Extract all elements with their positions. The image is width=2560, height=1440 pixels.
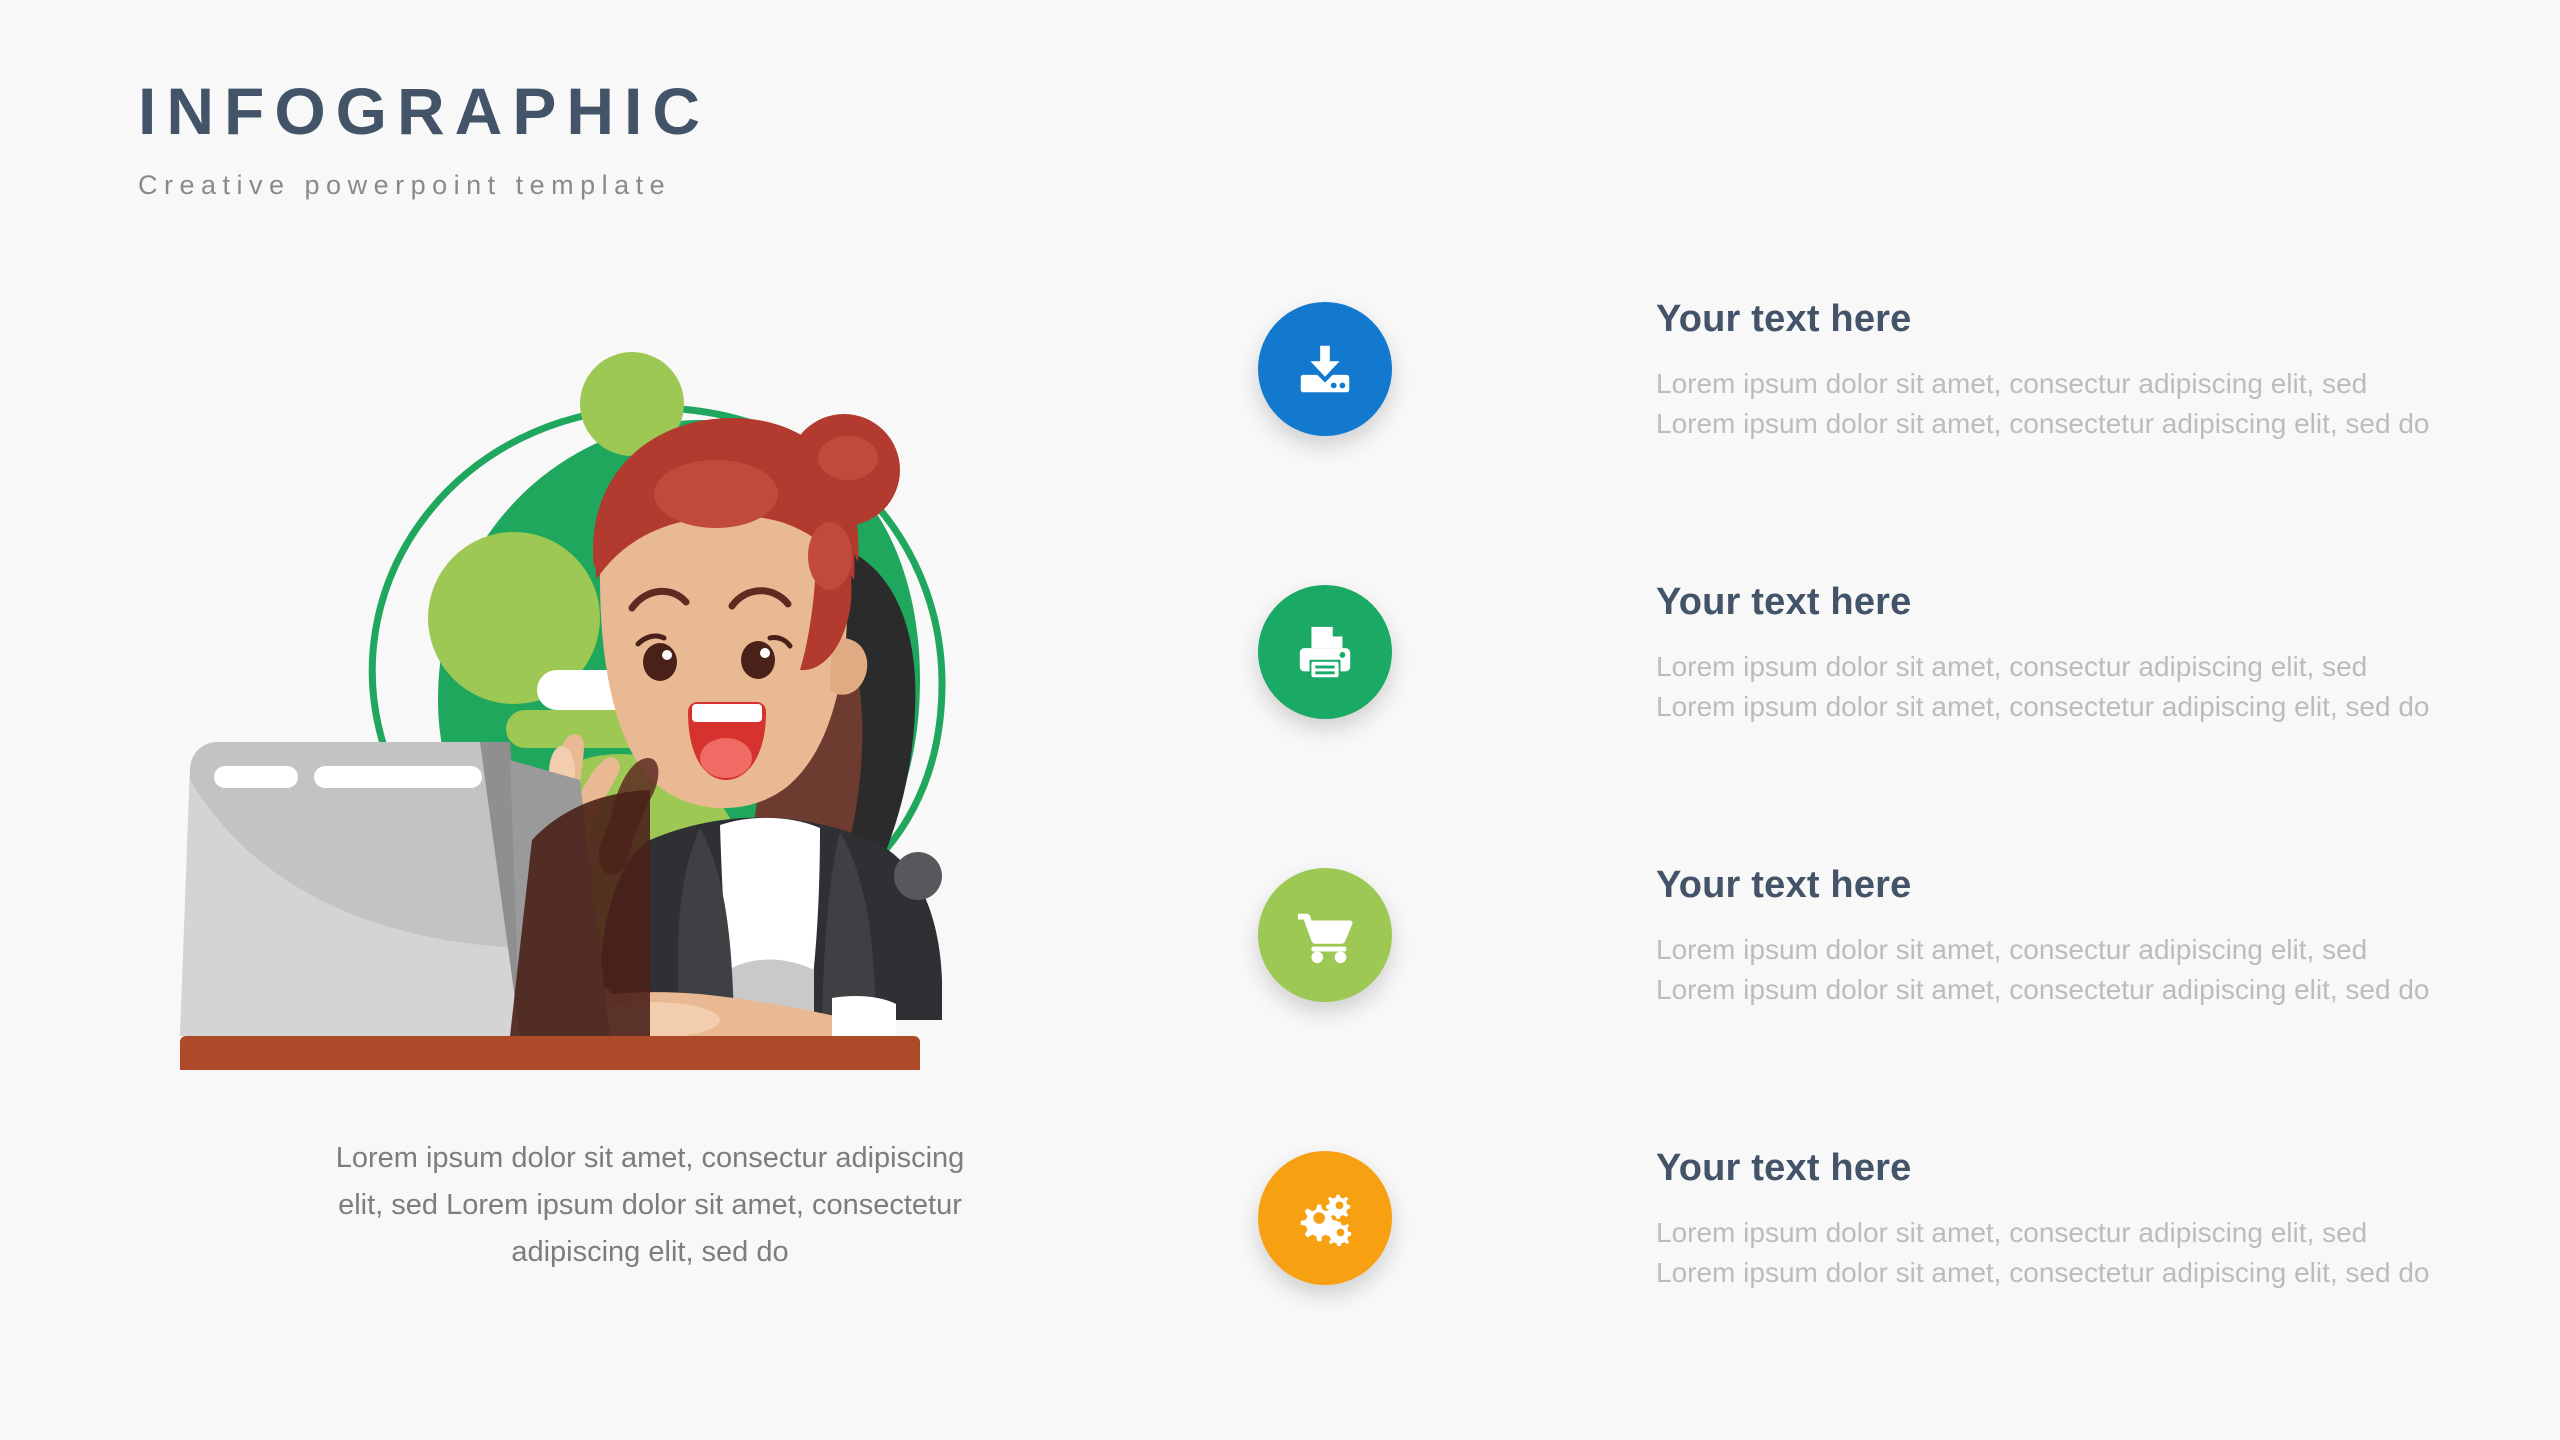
- hair-bun-highlight: [818, 436, 878, 480]
- caption-line-2: elit, sed Lorem ipsum dolor sit amet, co…: [338, 1189, 962, 1221]
- list-item-body-line-1: Lorem ipsum dolor sit amet, consectur ad…: [1656, 1213, 2516, 1253]
- list-item-body-line-2: Lorem ipsum dolor sit amet, consectetur …: [1656, 404, 2516, 444]
- desk: [180, 1036, 920, 1070]
- hero-illustration: [180, 280, 1120, 1070]
- list-item-body: Lorem ipsum dolor sit amet, consectur ad…: [1656, 1213, 2516, 1294]
- illustration-caption: Lorem ipsum dolor sit amet, consectur ad…: [200, 1135, 1100, 1276]
- gears-icon: [1294, 1187, 1356, 1249]
- download-icon-badge[interactable]: [1258, 302, 1392, 436]
- teeth: [692, 704, 762, 722]
- shopping-cart-icon-badge[interactable]: [1258, 868, 1392, 1002]
- hair-side-highlight: [808, 522, 852, 590]
- download-icon: [1294, 338, 1356, 400]
- shopping-cart-icon: [1294, 904, 1356, 966]
- slide-header: INFOGRAPHIC Creative powerpoint template: [138, 78, 710, 201]
- printer-icon: [1294, 621, 1356, 683]
- list-item-body-line-2: Lorem ipsum dolor sit amet, consectetur …: [1656, 1253, 2516, 1293]
- eye-right-glint: [760, 648, 770, 658]
- list-item-title: Your text here: [1656, 298, 2516, 342]
- feature-list: Your text here Lorem ipsum dolor sit ame…: [1258, 298, 2518, 1317]
- infographic-slide: INFOGRAPHIC Creative powerpoint template: [0, 0, 2560, 1440]
- list-item-body-line-1: Lorem ipsum dolor sit amet, consectur ad…: [1656, 364, 2516, 404]
- list-item[interactable]: Your text here Lorem ipsum dolor sit ame…: [1258, 581, 2518, 751]
- list-item-title: Your text here: [1656, 581, 2516, 625]
- list-item-body-line-1: Lorem ipsum dolor sit amet, consectur ad…: [1656, 930, 2516, 970]
- list-item-body-line-1: Lorem ipsum dolor sit amet, consectur ad…: [1656, 647, 2516, 687]
- list-item[interactable]: Your text here Lorem ipsum dolor sit ame…: [1258, 864, 2518, 1034]
- list-item-title: Your text here: [1656, 1147, 2516, 1191]
- list-item-body: Lorem ipsum dolor sit amet, consectur ad…: [1656, 364, 2516, 445]
- laptop-stripe-2: [314, 766, 482, 788]
- list-item-text: Your text here Lorem ipsum dolor sit ame…: [1656, 581, 2516, 727]
- list-item-text: Your text here Lorem ipsum dolor sit ame…: [1656, 864, 2516, 1010]
- eye-right: [741, 641, 775, 679]
- tongue: [700, 738, 752, 778]
- list-item[interactable]: Your text here Lorem ipsum dolor sit ame…: [1258, 298, 2518, 468]
- page-title: INFOGRAPHIC: [138, 78, 710, 144]
- list-item[interactable]: Your text here Lorem ipsum dolor sit ame…: [1258, 1147, 2518, 1317]
- eye-left: [643, 643, 677, 681]
- printer-icon-badge[interactable]: [1258, 585, 1392, 719]
- list-item-body-line-2: Lorem ipsum dolor sit amet, consectetur …: [1656, 687, 2516, 727]
- list-item-body: Lorem ipsum dolor sit amet, consectur ad…: [1656, 930, 2516, 1011]
- list-item-body-line-2: Lorem ipsum dolor sit amet, consectetur …: [1656, 970, 2516, 1010]
- list-item-title: Your text here: [1656, 864, 2516, 908]
- jacket-button: [894, 852, 942, 900]
- laptop-stripe-1: [214, 766, 298, 788]
- eye-left-glint: [662, 650, 672, 660]
- gears-icon-badge[interactable]: [1258, 1151, 1392, 1285]
- list-item-text: Your text here Lorem ipsum dolor sit ame…: [1656, 1147, 2516, 1293]
- caption-line-3: adipiscing elit, sed do: [511, 1236, 788, 1268]
- list-item-text: Your text here Lorem ipsum dolor sit ame…: [1656, 298, 2516, 444]
- caption-line-1: Lorem ipsum dolor sit amet, consectur ad…: [336, 1142, 965, 1174]
- hair-highlight: [654, 460, 778, 528]
- list-item-body: Lorem ipsum dolor sit amet, consectur ad…: [1656, 647, 2516, 728]
- page-subtitle: Creative powerpoint template: [138, 170, 710, 201]
